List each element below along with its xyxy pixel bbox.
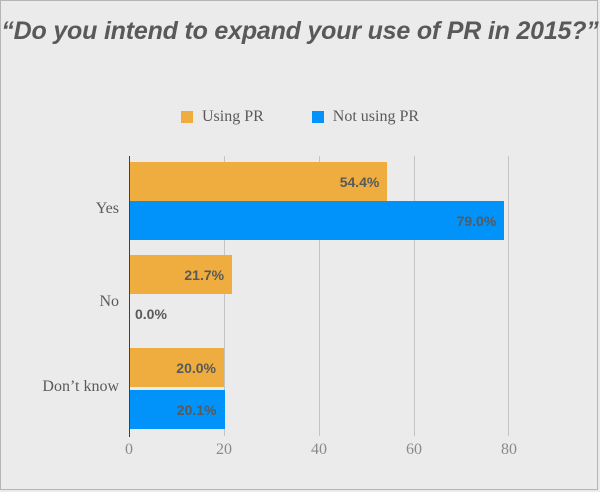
bar-row-dont-know-using-pr[interactable]: 20.0% [129,348,224,387]
x-tick-40: 40 [311,441,327,459]
bar-value-label-yes-not-using-pr: 79.0% [457,213,497,229]
bar-dont-know-using-pr[interactable]: 20.0% [129,348,224,387]
bar-row-yes-using-pr[interactable]: 54.4% [129,162,387,201]
plot-area: 54.4% 79.0% 21.7% 0.0% [129,156,509,436]
chart-container: “Do you intend to expand your use of PR … [0,0,598,490]
gridline-80 [508,156,509,436]
y-axis-category-labels: Yes No Don’t know [7,1,119,491]
bar-value-label-dont-know-not-using-pr: 20.1% [177,402,217,418]
y-axis-line [129,156,130,437]
x-tick-80: 80 [501,441,517,459]
plot-wrapper: Yes No Don’t know 54.4% 79.0% [1,1,599,491]
gridline-60 [414,156,415,436]
bar-value-label-yes-using-pr: 54.4% [340,174,380,190]
bar-row-yes-not-using-pr[interactable]: 79.0% [129,201,504,240]
x-tick-20: 20 [216,441,232,459]
bar-yes-using-pr[interactable]: 54.4% [129,162,387,201]
bar-value-label-no-not-using-pr: 0.0% [135,306,167,322]
y-label-dont-know: Don’t know [7,378,119,396]
bar-row-dont-know-not-using-pr[interactable]: 20.1% [129,390,225,429]
bar-dont-know-not-using-pr[interactable]: 20.1% [129,390,225,429]
bar-value-label-no-using-pr: 21.7% [184,267,224,283]
y-label-yes: Yes [7,200,119,218]
bar-value-label-dont-know-using-pr: 20.0% [176,360,216,376]
bar-row-no-using-pr[interactable]: 21.7% [129,255,232,294]
x-tick-60: 60 [406,441,422,459]
y-label-no: No [7,293,119,311]
bar-no-using-pr[interactable]: 21.7% [129,255,232,294]
x-axis-tick-labels: 0 20 40 60 80 [1,441,599,471]
x-tick-0: 0 [125,441,133,459]
bar-yes-not-using-pr[interactable]: 79.0% [129,201,504,240]
